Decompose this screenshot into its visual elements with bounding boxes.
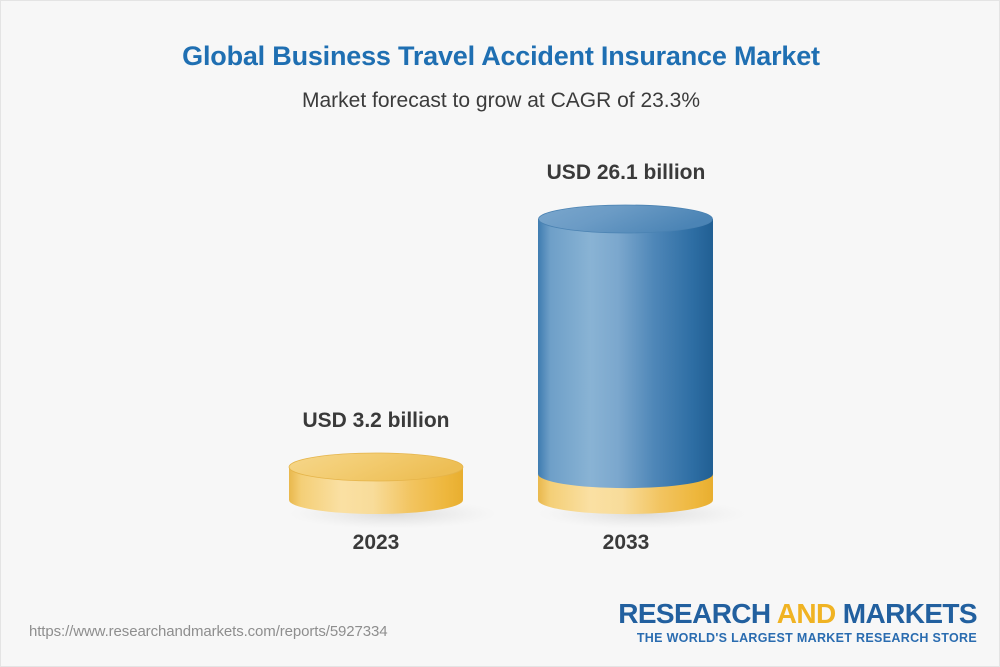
chart-canvas: Global Business Travel Accident Insuranc… [0,0,1000,667]
category-label-2033: 2033 [481,531,771,555]
logo-word-and: AND [777,598,843,629]
data-label-2033: USD 26.1 billion [481,161,771,185]
bar-2033[interactable] [538,205,746,529]
logo-wordmark: RESEARCH AND MARKETS [618,599,977,628]
bar-2023-top [289,453,463,481]
cylinder-bars-svg [1,1,1000,601]
data-label-2023: USD 3.2 billion [231,409,521,433]
researchandmarkets-logo[interactable]: RESEARCH AND MARKETS THE WORLD'S LARGEST… [618,599,977,645]
logo-word-markets: MARKETS [843,598,977,629]
logo-word-research: RESEARCH [618,598,776,629]
plot-area: USD 3.2 billion USD 26.1 billion 2023 20… [1,1,1000,601]
bar-2023[interactable] [289,453,497,529]
logo-tagline: THE WORLD'S LARGEST MARKET RESEARCH STOR… [618,631,977,645]
report-url[interactable]: https://www.researchandmarkets.com/repor… [29,623,388,640]
category-label-2023: 2023 [231,531,521,555]
bar-2033-body [538,219,713,488]
bar-2033-top [539,205,713,233]
